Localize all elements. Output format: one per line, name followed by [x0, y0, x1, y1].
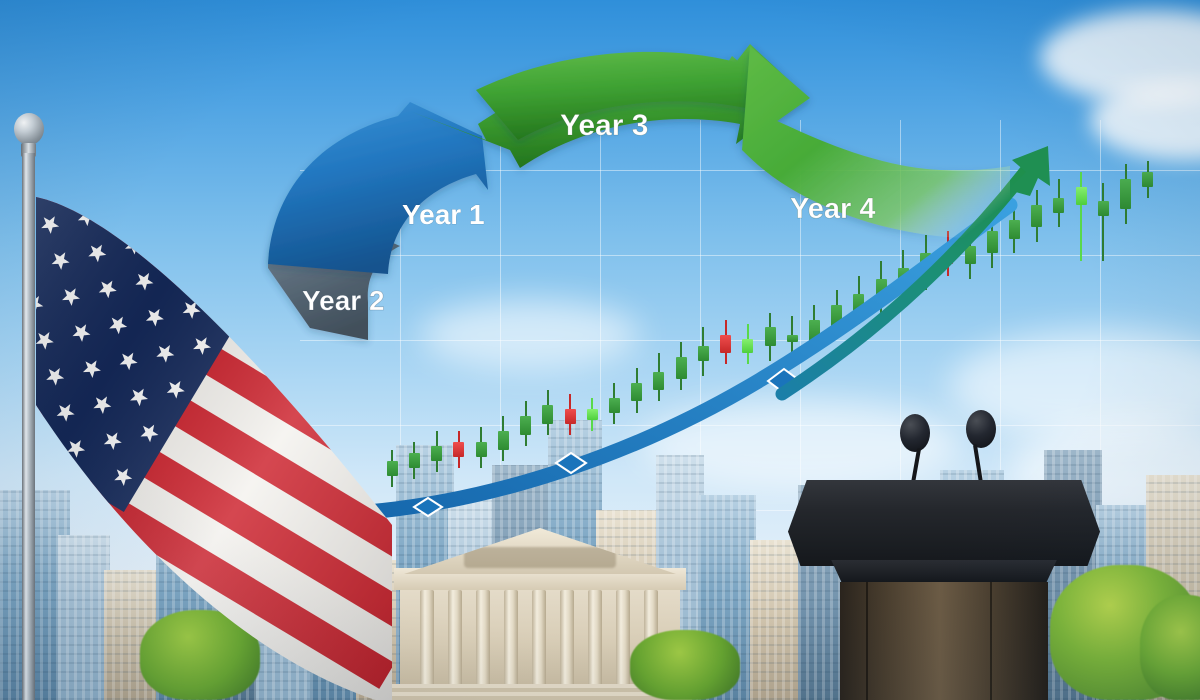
arrow-year-1-label: Year 1 [402, 199, 485, 230]
flag-star [0, 147, 5, 171]
flag-star [169, 261, 193, 285]
podium-top [788, 480, 1100, 566]
arrow-year-3-label: Year 3 [560, 109, 648, 142]
flag-star [28, 176, 52, 200]
microphone-icon [966, 410, 996, 448]
flag-star [17, 407, 41, 431]
us-flag-icon [0, 105, 400, 700]
microphone-stem [911, 448, 921, 484]
flag-cloth [0, 105, 400, 700]
microphone-icon [900, 414, 930, 452]
flag-star [7, 371, 31, 395]
flag-star [0, 183, 15, 207]
arrow-year-4[interactable] [742, 46, 1010, 238]
flag-stripes [0, 105, 400, 700]
flag-star [0, 335, 20, 359]
flag-star [12, 255, 36, 279]
arrowhead-icon [1008, 146, 1050, 196]
flag-star [216, 289, 240, 313]
flag-star [2, 219, 26, 243]
arrow-year-4-label: Year 4 [790, 193, 875, 225]
podium-icon [780, 410, 1110, 700]
microphone-stem [973, 444, 983, 484]
scene-canvas: Year 1 Year 2 Year 3 Year 4 [0, 0, 1200, 700]
podium-base [840, 582, 1048, 700]
flag-star [0, 299, 10, 323]
